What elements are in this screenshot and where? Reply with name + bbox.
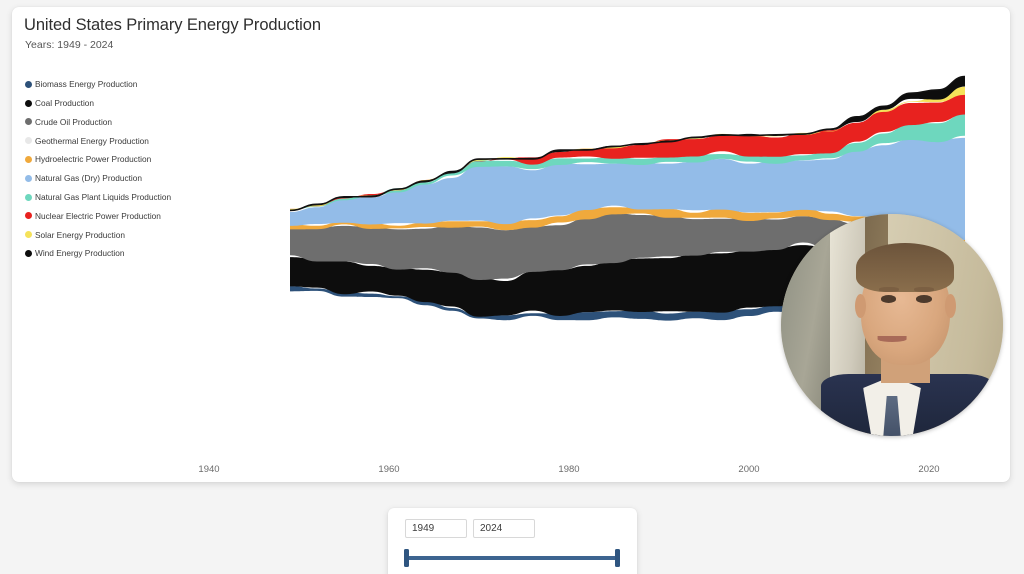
presenter-webcam-bubble[interactable] (781, 214, 1003, 436)
x-axis: 19401960198020002020 (12, 464, 1010, 482)
x-axis-tick-label: 1940 (198, 464, 219, 475)
slider-handle-end[interactable] (615, 549, 620, 567)
year-range-slider[interactable] (404, 549, 620, 567)
slider-track[interactable] (406, 556, 618, 560)
slider-handle-start[interactable] (404, 549, 409, 567)
year-range-inputs (405, 519, 535, 538)
app-root: United States Primary Energy Production … (0, 0, 1024, 574)
x-axis-tick-label: 1960 (378, 464, 399, 475)
webcam-person-brow-right (914, 287, 934, 292)
x-axis-tick-label: 1980 (558, 464, 579, 475)
webcam-person-mouth (878, 336, 907, 342)
chart-card: United States Primary Energy Production … (12, 7, 1010, 482)
webcam-person-eye-right (916, 295, 932, 303)
webcam-person-brow-left (879, 287, 899, 292)
year-range-panel (388, 508, 637, 574)
x-axis-tick-label: 2020 (918, 464, 939, 475)
webcam-video (781, 214, 1003, 436)
x-axis-tick-label: 2000 (738, 464, 759, 475)
webcam-person-hair (856, 243, 954, 292)
webcam-person-eye-left (881, 295, 897, 303)
year-end-input[interactable] (473, 519, 535, 538)
year-start-input[interactable] (405, 519, 467, 538)
